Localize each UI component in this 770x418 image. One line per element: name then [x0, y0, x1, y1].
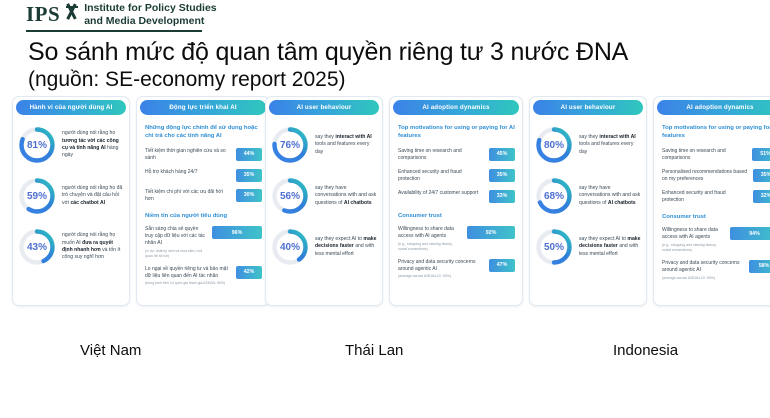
- section-heading-motivations: Top motivations for using or paying for …: [662, 124, 770, 141]
- metric-row: Privacy and data security concerns aroun…: [662, 260, 770, 281]
- metric-bar-value: 58%: [759, 263, 770, 269]
- page-subtitle: (nguồn: SE-economy report 2025): [28, 68, 346, 92]
- metric-label: Hỗ trợ khách hàng 24/7: [145, 169, 231, 176]
- donut-value: 40%: [270, 227, 310, 267]
- donut-value: 56%: [270, 176, 310, 216]
- metric-bar-vietnam-m-1: 35%: [236, 169, 262, 182]
- dynamics-card-title: Động lực triển khai AI: [169, 104, 236, 111]
- metric-bar-value: 32%: [761, 193, 770, 199]
- metric-bar-value: 35%: [244, 172, 255, 178]
- metric-label: Saving time on research and comparisons: [662, 148, 747, 162]
- logo-acronym: IPS: [26, 4, 60, 25]
- dynamics-body: Những động lực chính để sử dụng hoặc chi…: [137, 115, 269, 286]
- donut-value: 50%: [534, 227, 574, 267]
- behaviour-card-title: AI user behaviour: [561, 104, 616, 111]
- behaviour-card-header: AI user behaviour: [269, 100, 379, 115]
- behaviour-item: 50% say they expect AI to make decisions…: [534, 227, 641, 267]
- behaviour-item: 40% say they expect AI to make decisions…: [270, 227, 377, 267]
- metric-bar-thailand-m-2: 33%: [489, 190, 515, 203]
- metric-note: (ví dụ: nhật ký xem và mua sắm, mối quan…: [145, 249, 207, 259]
- donut-chart-indonesia2: 50%: [534, 227, 574, 267]
- metric-row: Availability of 24/7 customer support 33…: [398, 190, 515, 203]
- behaviour-card-header: AI user behaviour: [533, 100, 643, 115]
- metric-row: Personalised recommendations based on my…: [662, 169, 770, 183]
- behaviour-card-vietnam: Hành vi của người dùng AI 81% người dùng…: [12, 96, 130, 306]
- metric-bar-value: 45%: [497, 151, 508, 157]
- metric-bar-value: 33%: [497, 193, 508, 199]
- logo-subtitle-line1: Institute for Policy Studies: [84, 2, 216, 15]
- behaviour-item: 56% say they have conversations with and…: [270, 176, 377, 216]
- metric-bar-value: 92%: [486, 230, 497, 236]
- donut-chart-vietnam1: 59%: [17, 176, 57, 216]
- metric-bar-vietnam-m-0: 44%: [236, 148, 262, 161]
- country-panel-vietnam: Hành vi của người dùng AI 81% người dùng…: [12, 96, 270, 306]
- metric-note: (e.g., shopping and viewing history, soc…: [662, 243, 725, 253]
- metric-label: Personalised recommendations based on my…: [662, 169, 748, 183]
- country-caption-vietnam: Việt Nam: [80, 342, 141, 359]
- behaviour-item: 68% say they have conversations with and…: [534, 176, 641, 216]
- metric-bar-thailand-m-0: 45%: [489, 148, 515, 161]
- section-heading-motivations: Những động lực chính để sử dụng hoặc chi…: [145, 124, 262, 141]
- metric-bar-value: 47%: [497, 262, 508, 268]
- behaviour-text: say they interact with AI tools and feat…: [315, 134, 377, 156]
- donut-value: 76%: [270, 125, 310, 165]
- page-title: So sánh mức độ quan tâm quyền riêng tư 3…: [28, 38, 628, 67]
- metric-bar-indonesia-m-0: 51%: [752, 148, 770, 161]
- metric-label: Sẵn sàng chia sẻ quyền truy cập dữ liệu …: [145, 226, 207, 259]
- metric-note: (average across ASEAN-10: 50%): [398, 274, 484, 279]
- metric-row: Saving time on research and comparisons …: [398, 148, 515, 162]
- metric-bar-vietnam-t-1: 42%: [236, 266, 262, 279]
- metric-bar-value: 30%: [244, 192, 255, 198]
- metric-row: Tiết kiệm thời gian nghiên cứu và so sán…: [145, 148, 262, 162]
- metric-row: Enhanced security and fraud protection 3…: [662, 190, 770, 204]
- metric-label: Availability of 24/7 customer support: [398, 190, 484, 197]
- country-caption-thailand: Thái Lan: [345, 342, 403, 359]
- section-heading-trust: Consumer trust: [662, 213, 770, 221]
- metric-bar-thailand-m-1: 35%: [489, 169, 515, 182]
- behaviour-card-indonesia: AI user behaviour 80% say they interact …: [529, 96, 647, 306]
- behaviour-card-header: Hành vi của người dùng AI: [16, 100, 126, 115]
- behaviour-text: say they expect AI to make decisions fas…: [315, 236, 377, 258]
- metric-bar-value: 35%: [497, 172, 508, 178]
- dynamics-card-thailand: AI adoption dynamics Top motivations for…: [389, 96, 523, 306]
- metric-label: Tiết kiệm thời gian nghiên cứu và so sán…: [145, 148, 231, 162]
- logo: IPS Institute for Policy Studies and Med…: [26, 2, 217, 28]
- behaviour-text: người dùng nói rằng họ đã trò chuyện và …: [62, 185, 124, 207]
- donut-chart-indonesia0: 80%: [534, 125, 574, 165]
- section-heading-motivations: Top motivations for using or paying for …: [398, 124, 515, 141]
- behaviour-list: 76% say they interact with AI tools and …: [266, 115, 382, 267]
- metric-bar-indonesia-t-0: 94%: [730, 227, 770, 240]
- behaviour-item: 43% người dùng nói rằng họ muốn AI đưa r…: [17, 227, 124, 267]
- metric-row: Hỗ trợ khách hàng 24/7 35%: [145, 169, 262, 182]
- dynamics-card-vietnam: Động lực triển khai AI Những động lực ch…: [136, 96, 270, 306]
- donut-value: 81%: [17, 125, 57, 165]
- behaviour-item: 81% người dùng nói rằng họ tương tác với…: [17, 125, 124, 165]
- metric-bar-vietnam-m-2: 30%: [236, 189, 262, 202]
- behaviour-item: 80% say they interact with AI tools and …: [534, 125, 641, 165]
- dynamics-card-title: AI adoption dynamics: [686, 104, 753, 111]
- behaviour-list: 81% người dùng nói rằng họ tương tác với…: [13, 115, 129, 267]
- brand-header: IPS Institute for Policy Studies and Med…: [0, 0, 770, 30]
- metric-row: Lo ngại về quyền riêng tư và bảo mật dữ …: [145, 266, 262, 287]
- metric-label: Privacy and data security concerns aroun…: [398, 259, 484, 280]
- behaviour-text: say they expect AI to make decisions fas…: [579, 236, 641, 258]
- metric-note: (average across ASEAN-10: 50%): [662, 276, 744, 281]
- metric-bar-value: 44%: [244, 151, 255, 157]
- donut-chart-indonesia1: 68%: [534, 176, 574, 216]
- behaviour-text: người dùng nói rằng họ muốn AI đưa ra qu…: [62, 232, 124, 262]
- behaviour-list: 80% say they interact with AI tools and …: [530, 115, 646, 267]
- behaviour-text: say they have conversations with and ask…: [579, 185, 641, 207]
- metric-bar-indonesia-t-1: 58%: [749, 260, 770, 273]
- country-panel-thailand: AI user behaviour 76% say they interact …: [265, 96, 523, 306]
- metric-label: Tiết kiệm chi phí với các ưu đãi hời hơn: [145, 189, 231, 203]
- metric-bar-indonesia-m-2: 32%: [753, 190, 770, 203]
- metric-bar-thailand-t-1: 47%: [489, 259, 515, 272]
- donut-chart-thailand1: 56%: [270, 176, 310, 216]
- country-caption-indonesia: Indonesia: [613, 342, 678, 359]
- donut-chart-vietnam0: 81%: [17, 125, 57, 165]
- dynamics-body: Top motivations for using or paying for …: [390, 115, 522, 279]
- donut-chart-thailand2: 40%: [270, 227, 310, 267]
- behaviour-card-title: Hành vi của người dùng AI: [30, 104, 113, 111]
- metric-label: Willingness to share data access with AI…: [662, 227, 725, 252]
- metric-label: Privacy and data security concerns aroun…: [662, 260, 744, 281]
- section-heading-trust: Consumer trust: [398, 212, 515, 220]
- behaviour-card-thailand: AI user behaviour 76% say they interact …: [265, 96, 383, 306]
- metric-bar-value: 42%: [244, 269, 255, 275]
- dynamics-card-title: AI adoption dynamics: [422, 104, 489, 111]
- metric-row: Saving time on research and comparisons …: [662, 148, 770, 162]
- donut-value: 68%: [534, 176, 574, 216]
- ips-cross-icon: [64, 4, 79, 19]
- behaviour-card-title: AI user behaviour: [297, 104, 352, 111]
- dynamics-card-header: Động lực triển khai AI: [140, 100, 266, 115]
- metric-row: Willingness to share data access with AI…: [662, 227, 770, 252]
- metric-label: Saving time on research and comparisons: [398, 148, 484, 162]
- metric-label: Willingness to share data access with AI…: [398, 226, 462, 251]
- metric-bar-value: 51%: [760, 151, 770, 157]
- section-heading-trust: Niềm tin của người tiêu dùng: [145, 212, 262, 220]
- metric-bar-vietnam-t-0: 96%: [212, 226, 262, 239]
- metric-label: Enhanced security and fraud protection: [662, 190, 748, 204]
- dynamics-card-header: AI adoption dynamics: [393, 100, 519, 115]
- metric-note: (e.g., shopping and viewing history, soc…: [398, 242, 462, 252]
- dynamics-card-header: AI adoption dynamics: [657, 100, 770, 115]
- donut-value: 43%: [17, 227, 57, 267]
- metric-row: Tiết kiệm chi phí với các ưu đãi hời hơn…: [145, 189, 262, 203]
- donut-value: 59%: [17, 176, 57, 216]
- behaviour-item: 76% say they interact with AI tools and …: [270, 125, 377, 165]
- behaviour-text: say they interact with AI tools and feat…: [579, 134, 641, 156]
- metric-bar-indonesia-m-1: 35%: [753, 169, 770, 182]
- logo-subtitle-line2: and Media Development: [84, 15, 216, 28]
- behaviour-text: say they have conversations with and ask…: [315, 185, 377, 207]
- metric-row: Enhanced security and fraud protection 3…: [398, 169, 515, 183]
- metric-bar-thailand-t-0: 92%: [467, 226, 515, 239]
- metric-label: Lo ngại về quyền riêng tư và bảo mật dữ …: [145, 266, 231, 287]
- dynamics-card-indonesia: AI adoption dynamics Top motivations for…: [653, 96, 770, 306]
- brand-divider: [26, 30, 202, 32]
- metric-note: (trung bình trên 10 quốc gia tham gia AS…: [145, 281, 231, 286]
- metric-bar-value: 35%: [761, 172, 770, 178]
- country-panel-indonesia: AI user behaviour 80% say they interact …: [529, 96, 770, 306]
- donut-value: 80%: [534, 125, 574, 165]
- behaviour-text: người dùng nói rằng họ tương tác với các…: [62, 130, 124, 160]
- dynamics-body: Top motivations for using or paying for …: [654, 115, 770, 280]
- metric-row: Privacy and data security concerns aroun…: [398, 259, 515, 280]
- metric-row: Willingness to share data access with AI…: [398, 226, 515, 251]
- behaviour-item: 59% người dùng nói rằng họ đã trò chuyện…: [17, 176, 124, 216]
- logo-subtitle: Institute for Policy Studies and Media D…: [84, 2, 216, 28]
- donut-chart-thailand0: 76%: [270, 125, 310, 165]
- metric-bar-value: 94%: [749, 231, 760, 237]
- metric-bar-value: 96%: [232, 230, 243, 236]
- country-panels: Hành vi của người dùng AI 81% người dùng…: [0, 96, 770, 326]
- metric-label: Enhanced security and fraud protection: [398, 169, 484, 183]
- metric-row: Sẵn sàng chia sẻ quyền truy cập dữ liệu …: [145, 226, 262, 259]
- donut-chart-vietnam2: 43%: [17, 227, 57, 267]
